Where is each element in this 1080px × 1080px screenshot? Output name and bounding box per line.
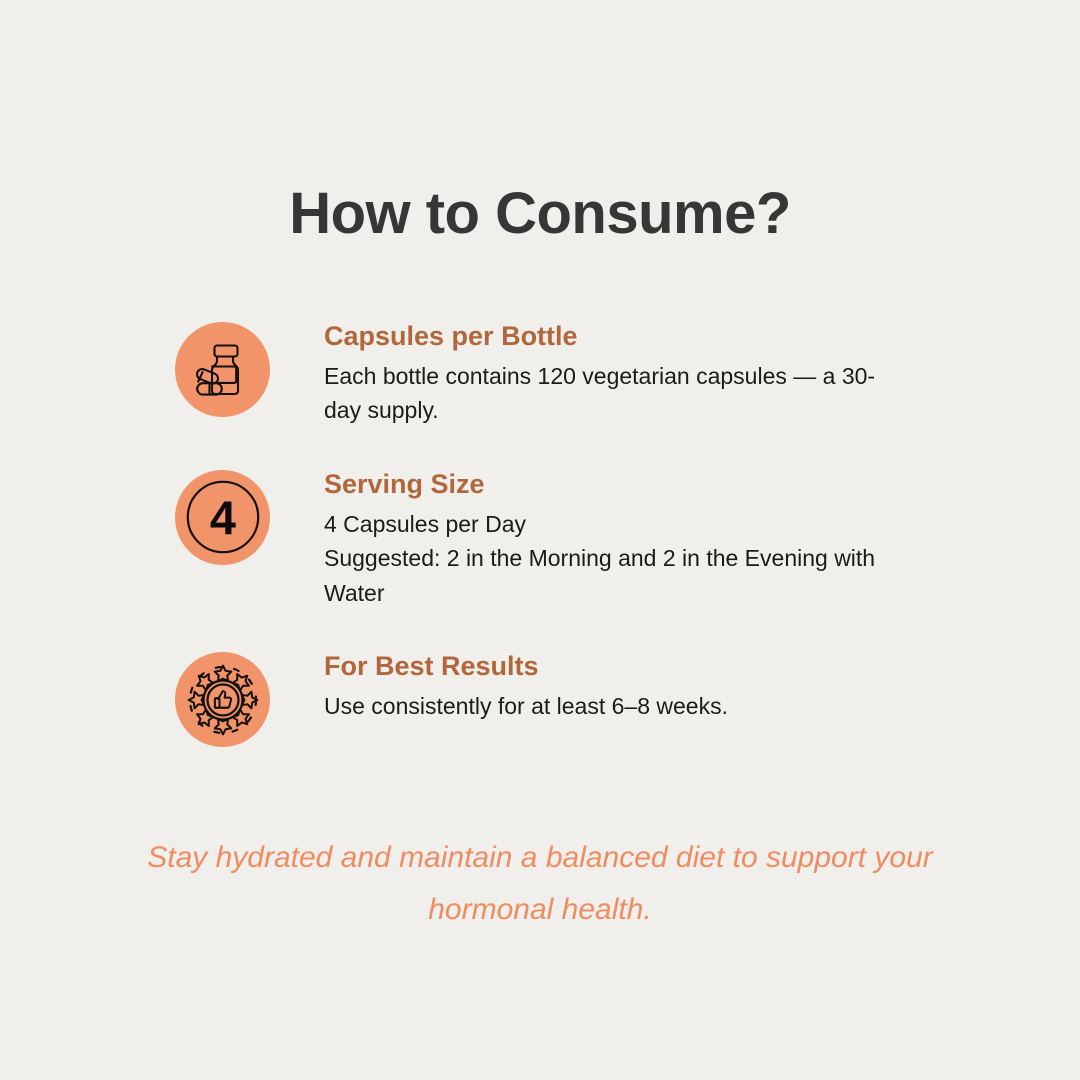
feature-heading: Capsules per Bottle <box>324 320 916 354</box>
feature-body-line: 4 Capsules per Day <box>324 507 916 542</box>
feature-list: Capsules per Bottle Each bottle contains… <box>175 318 975 747</box>
feature-heading: For Best Results <box>324 650 916 684</box>
footer-note-line: Stay hydrated and maintain a balanced di… <box>147 841 757 874</box>
feature-text: For Best Results Use consistently for at… <box>324 648 916 723</box>
thumbs-up-badge-icon-badge <box>175 652 270 747</box>
feature-text: Capsules per Bottle Each bottle contains… <box>324 318 916 428</box>
pill-bottle-icon <box>193 340 253 400</box>
feature-text: Serving Size 4 Capsules per Day Suggeste… <box>324 466 916 610</box>
feature-body: 4 Capsules per Day Suggested: 2 in the M… <box>324 507 916 611</box>
feature-body-line: Water <box>324 576 916 611</box>
feature-body-line: day supply. <box>324 393 916 428</box>
footer-note: Stay hydrated and maintain a balanced di… <box>140 832 940 935</box>
feature-body: Each bottle contains 120 vegetarian caps… <box>324 359 916 428</box>
page-title: How to Consume? <box>0 182 1080 246</box>
svg-text:4: 4 <box>209 491 235 544</box>
feature-body: Use consistently for at least 6–8 weeks. <box>324 689 916 724</box>
list-item: 4 Serving Size 4 Capsules per Day Sugges… <box>175 466 975 610</box>
number-four-circle-icon: 4 <box>185 479 261 555</box>
feature-body-line: Each bottle contains 120 vegetarian caps… <box>324 359 916 394</box>
how-to-consume-card: How to Consume? Capsules <box>0 0 1080 1080</box>
list-item: For Best Results Use consistently for at… <box>175 648 975 747</box>
list-item: Capsules per Bottle Each bottle contains… <box>175 318 975 428</box>
pill-bottle-icon-badge <box>175 322 270 417</box>
feature-body-line: Use consistently for at least 6–8 weeks. <box>324 689 916 724</box>
feature-body-line: Suggested: 2 in the Morning and 2 in the… <box>324 541 916 576</box>
feature-heading: Serving Size <box>324 468 916 502</box>
number-four-circle-icon-badge: 4 <box>175 470 270 565</box>
thumbs-up-badge-icon <box>183 660 263 740</box>
